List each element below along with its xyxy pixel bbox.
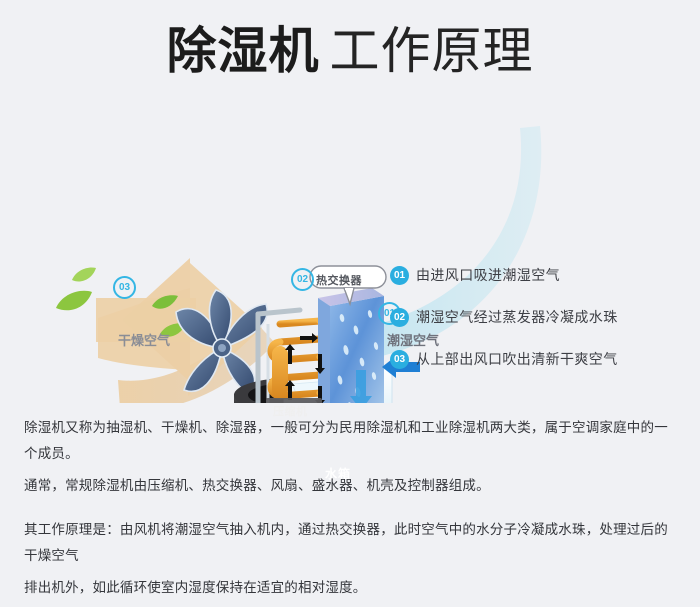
page-title-bold: 除湿机 (167, 23, 320, 79)
description-block: 除湿机又称为抽湿机、干燥机、除湿器，一般可分为民用除湿机和工业除湿机两大类，属于… (24, 415, 679, 607)
description-paragraph-2: 通常，常规除湿机由压缩机、热交换器、风扇、盛水器、机壳及控制器组成。 (24, 473, 679, 499)
diagram-marker-02: 02 (291, 268, 314, 291)
evaporator-fins (318, 288, 384, 403)
page-title-light: 工作原理 (330, 23, 534, 79)
description-paragraph-4: 排出机外，如此循环使室内湿度保持在适宜的相对湿度。 (24, 575, 679, 601)
description-paragraph-1: 除湿机又称为抽湿机、干燥机、除湿器，一般可分为民用除湿机和工业除湿机两大类，属于… (24, 415, 679, 467)
legend-badge-03: 03 (390, 350, 409, 369)
legend-item-02: 02 潮湿空气经过蒸发器冷凝成水珠 (390, 296, 690, 338)
legend-text-01: 由进风口吸进潮湿空气 (416, 265, 560, 285)
legend-text-02: 潮湿空气经过蒸发器冷凝成水珠 (416, 307, 618, 327)
legend-badge-01: 01 (390, 266, 409, 285)
legend-item-01: 01 由进风口吸进潮湿空气 (390, 254, 690, 296)
legend-list: 01 由进风口吸进潮湿空气 02 潮湿空气经过蒸发器冷凝成水珠 03 从上部出风… (390, 254, 690, 380)
legend-item-03: 03 从上部出风口吹出清新干爽空气 (390, 338, 690, 380)
page-title: 除湿机工作原理 (0, 26, 700, 76)
legend-badge-02: 02 (390, 308, 409, 327)
legend-text-03: 从上部出风口吹出清新干爽空气 (416, 349, 618, 369)
description-paragraph-3: 其工作原理是：由风机将潮湿空气抽入机内，通过热交换器，此时空气中的水分子冷凝成水… (24, 517, 679, 569)
diagram-marker-03: 03 (113, 276, 136, 299)
